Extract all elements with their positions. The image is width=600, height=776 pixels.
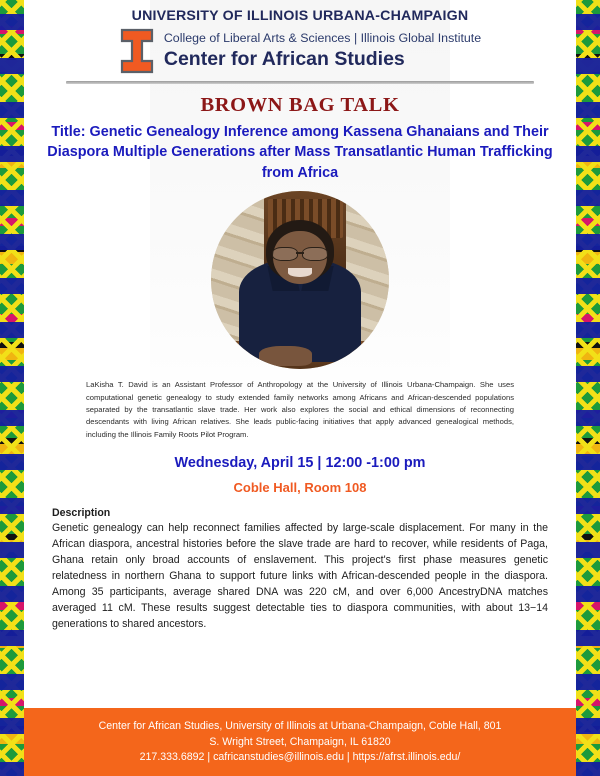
poster-content: UNIVERSITY OF ILLINOIS URBANA-CHAMPAIGN … — [24, 0, 576, 776]
university-name: UNIVERSITY OF ILLINOIS URBANA-CHAMPAIGN — [24, 8, 576, 25]
footer-address-line-1: Center for African Studies, University o… — [87, 719, 514, 734]
footer-address-line-2: S. Wright Street, Champaign, IL 61820 — [197, 735, 402, 750]
speaker-bio: LaKisha T. David is an Assistant Profess… — [86, 379, 514, 440]
poster-footer: Center for African Studies, University o… — [24, 708, 576, 776]
event-datetime: Wednesday, April 15 | 12:00 -1:00 pm — [24, 455, 576, 471]
header-text-block: College of Liberal Arts & Sciences | Ill… — [164, 31, 481, 72]
center-name: Center for African Studies — [164, 47, 481, 71]
header-divider — [66, 81, 534, 84]
talk-title: Title: Genetic Genealogy Inference among… — [38, 122, 562, 183]
speaker-photo-wrapper — [24, 191, 576, 369]
speaker-portrait — [211, 191, 389, 369]
college-line: College of Liberal Arts & Sciences | Ill… — [164, 31, 481, 47]
header-logo-row: College of Liberal Arts & Sciences | Ill… — [24, 28, 576, 74]
illinois-block-i-icon — [119, 28, 155, 74]
footer-contact-line: 217.333.6892 | cafricanstudies@illinois.… — [128, 750, 473, 765]
brown-bag-talk-kicker: BROWN BAG TALK — [24, 94, 576, 117]
description-section: Description Genetic genealogy can help r… — [52, 507, 548, 633]
poster-header: UNIVERSITY OF ILLINOIS URBANA-CHAMPAIGN … — [24, 0, 576, 84]
event-location: Coble Hall, Room 108 — [24, 480, 576, 495]
kente-border-left — [0, 0, 24, 776]
kente-border-right — [576, 0, 600, 776]
description-body: Genetic genealogy can help reconnect fam… — [52, 520, 548, 633]
description-heading: Description — [52, 507, 548, 519]
